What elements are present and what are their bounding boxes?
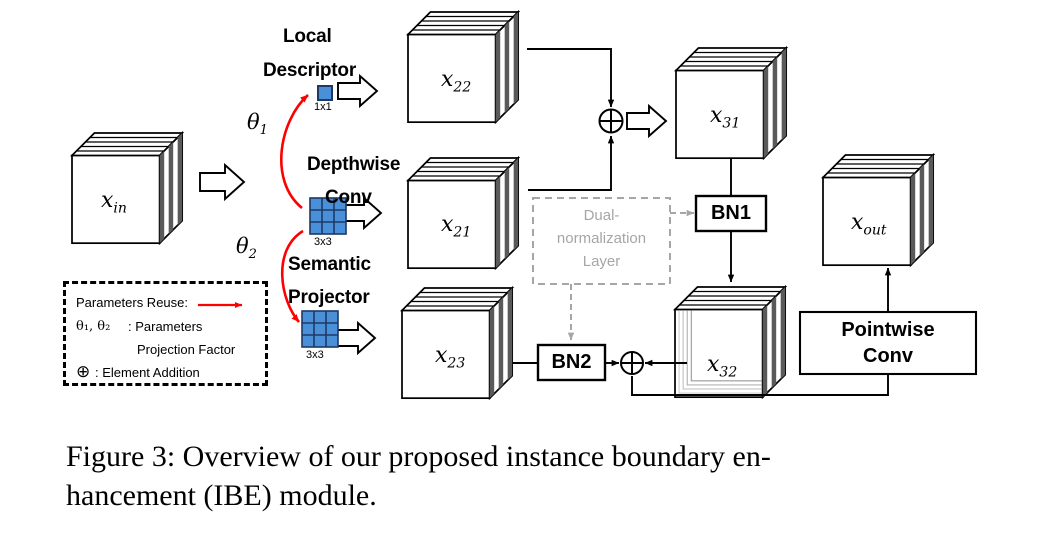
theta1-label: θ1 <box>247 110 268 138</box>
edge-x22-to-add <box>527 49 611 107</box>
bn2-label: BN2 <box>538 351 605 374</box>
edge-x21-to-add <box>528 136 611 190</box>
legend-addition-symbol: ⊕ <box>76 363 90 380</box>
legend-box: Parameters Reuse: θ₁, θ₂ : Parameters Pr… <box>63 281 268 386</box>
tensor-label-x-in: xin <box>101 188 127 216</box>
tensor-cube-x32 <box>675 287 785 397</box>
pointwise-conv-label-line1: Pointwise <box>800 319 976 342</box>
block-arrow-semantic <box>336 323 375 353</box>
reuse-curve-theta1 <box>281 95 308 208</box>
tensor-label-x-in-base: x <box>101 188 113 213</box>
kernel-1x1-icon <box>318 86 332 100</box>
tensor-label-x31-sub: 31 <box>722 115 740 131</box>
theta1-symbol: θ <box>247 110 260 134</box>
tensor-label-x-out: xout <box>851 210 887 238</box>
block-arrow-to-x31 <box>627 106 666 136</box>
kernel-size-label-1x1: 1x1 <box>314 101 332 113</box>
branch-title-depthwise-line1: Depthwise <box>307 155 400 175</box>
theta1-sub: 1 <box>260 123 268 138</box>
tensor-cube-x-in <box>72 133 182 243</box>
theta2-label: θ2 <box>236 234 257 262</box>
legend-addition-text: : Element Addition <box>95 365 200 380</box>
tensor-label-x21-sub: 21 <box>453 224 471 240</box>
tensor-label-x32: x32 <box>707 352 737 380</box>
legend-theta-symbols: θ₁, θ₂ <box>76 319 110 334</box>
tensor-label-x31: x31 <box>710 103 740 131</box>
element-addition-node-1 <box>600 110 623 133</box>
figure-caption: Figure 3: Overview of our proposed insta… <box>66 437 976 515</box>
ibe-module-diagram: Local Descriptor Depthwise Conv Semantic… <box>0 0 1043 425</box>
tensor-label-x31-base: x <box>710 103 722 128</box>
figure-caption-line-2: hancement (IBE) module. <box>66 476 976 515</box>
tensor-label-x32-base: x <box>707 352 719 377</box>
tensor-label-x32-sub: 32 <box>719 364 737 380</box>
element-addition-node-2 <box>621 352 643 374</box>
tensor-label-x-out-sub: out <box>863 222 886 238</box>
pointwise-conv-label-line2: Conv <box>800 345 976 368</box>
tensor-label-x22: x22 <box>441 67 471 95</box>
branch-title-local-descriptor-line2: Descriptor <box>263 61 356 81</box>
tensor-label-x23: x23 <box>435 343 465 371</box>
block-arrow-input <box>200 165 244 199</box>
bn1-label: BN1 <box>696 202 766 225</box>
branch-title-depthwise-line2: Conv <box>325 188 372 208</box>
legend-parameters-reuse-label: Parameters Reuse: <box>76 295 188 310</box>
legend-theta-text: : Parameters <box>128 319 202 334</box>
tensor-label-x-out-base: x <box>851 210 863 235</box>
tensor-label-x23-base: x <box>435 343 447 368</box>
branch-title-local-descriptor-line1: Local <box>283 27 332 47</box>
kernel-size-label-semantic: 3x3 <box>306 349 324 361</box>
dual-normalization-label-line2: normalization <box>533 228 670 250</box>
legend-reuse-arrow-icon <box>196 298 252 312</box>
dual-normalization-label-line1: Dual- <box>533 205 670 227</box>
legend-projection-factor-text: Projection Factor <box>137 342 235 357</box>
branch-title-semantic-line2: Projector <box>288 288 370 308</box>
tensor-label-x22-sub: 22 <box>453 79 471 95</box>
tensor-label-x-in-sub: in <box>113 200 127 216</box>
theta2-symbol: θ <box>236 234 249 258</box>
tensor-label-x21: x21 <box>441 212 471 240</box>
tensor-label-x22-base: x <box>441 67 453 92</box>
figure-root: Local Descriptor Depthwise Conv Semantic… <box>0 0 1043 541</box>
dual-normalization-label-line3: Layer <box>533 251 670 273</box>
tensor-label-x23-sub: 23 <box>447 355 465 371</box>
reuse-curve-theta2 <box>282 231 303 322</box>
kernel-3x3-semantic-icon <box>302 311 338 347</box>
figure-caption-line-1: Figure 3: Overview of our proposed insta… <box>66 437 976 476</box>
branch-title-semantic-line1: Semantic <box>288 255 371 275</box>
tensor-label-x21-base: x <box>441 212 453 237</box>
theta2-sub: 2 <box>249 247 257 262</box>
kernel-size-label-depthwise: 3x3 <box>314 236 332 248</box>
